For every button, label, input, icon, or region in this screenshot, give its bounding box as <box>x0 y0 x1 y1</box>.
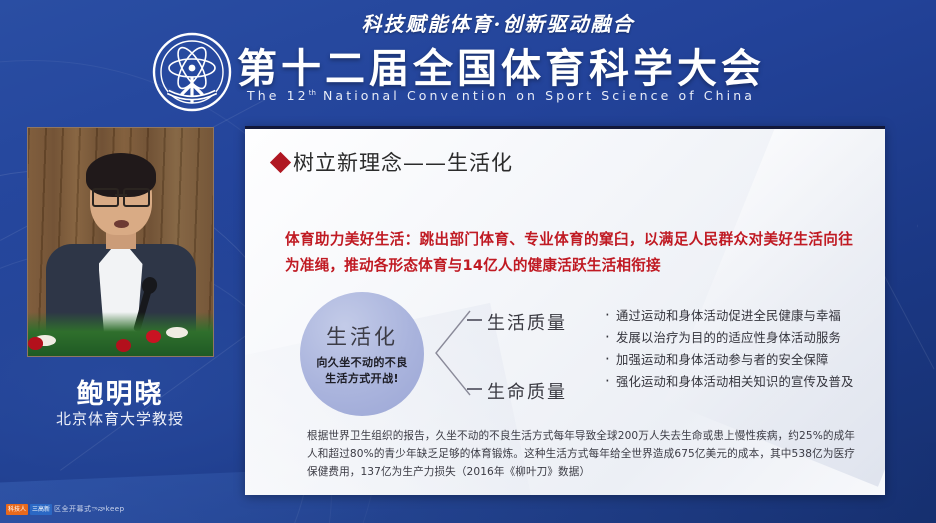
header-script-line: 科技赋能体育·创新驱动融合 <box>0 8 936 37</box>
photo-flowers <box>28 312 213 356</box>
circle-headline: 生活化 <box>326 321 398 351</box>
watermark-tag-a: 科技人 <box>6 504 28 515</box>
watermark-text: 区全开幕式ానాkeep <box>54 504 125 515</box>
header-main-title: 第十二届全国体育科学大会 <box>0 36 936 94</box>
list-item: 发展以治疗为目的的适应性身体活动服务 <box>605 327 873 349</box>
branch-label-life-quality: 生活质量 <box>487 309 567 335</box>
slide-bullet-list: 通过运动和身体活动促进全民健康与幸福 发展以治疗为目的的适应性身体活动服务 加强… <box>605 305 873 393</box>
list-item: 强化运动和身体活动相关知识的宣传及普及 <box>605 371 873 393</box>
diamond-bullet-icon <box>270 151 291 172</box>
slide-red-paragraph: 体育助力美好生活：跳出部门体育、专业体育的窠臼，以满足人民群众对美好生活向往为准… <box>285 227 853 279</box>
header-english-ordinal: th <box>309 89 316 97</box>
conference-header: 科技赋能体育·创新驱动融合 第十二届全国体育科学大会 The 12th Nati… <box>0 0 936 118</box>
broadcast-watermark: 科技人 三高新 区全开幕式ానాkeep <box>6 504 125 515</box>
speaker-affiliation: 北京体育大学教授 <box>0 408 240 429</box>
circle-subline-2: 生活方式开战! <box>316 371 407 387</box>
watermark-tag-b: 三高新 <box>30 504 52 515</box>
slide-footnote: 根据世界卫生组织的报告，久坐不动的不良生活方式每年导致全球200万人失去生命或患… <box>307 427 855 481</box>
header-english-post: National Convention on Sport Science of … <box>316 88 755 103</box>
circle-subline: 向久坐不动的不良 生活方式开战! <box>316 355 407 387</box>
speaker-name: 鲍明晓 <box>0 372 240 411</box>
list-item: 加强运动和身体活动参与者的安全保障 <box>605 349 873 371</box>
list-item: 通过运动和身体活动促进全民健康与幸福 <box>605 305 873 327</box>
slide-title-text: 树立新理念——生活化 <box>293 147 513 177</box>
branch-label-health-quality: 生命质量 <box>487 378 567 404</box>
branch-dash <box>467 319 482 321</box>
branch-bracket-icon <box>430 307 472 399</box>
lifestyle-circle: 生活化 向久坐不动的不良 生活方式开战! <box>300 292 424 416</box>
photo-mouth <box>114 220 129 228</box>
header-english-subtitle: The 12th National Convention on Sport Sc… <box>0 88 936 103</box>
branch-dash <box>467 388 482 390</box>
photo-glasses <box>92 188 150 203</box>
slide-panel: 树立新理念——生活化 体育助力美好生活：跳出部门体育、专业体育的窠臼，以满足人民… <box>245 126 885 495</box>
slide-screenshot: 科技赋能体育·创新驱动融合 第十二届全国体育科学大会 The 12th Nati… <box>0 0 936 523</box>
header-english-pre: The 12 <box>247 88 309 103</box>
slide-title: 树立新理念——生活化 <box>273 147 513 177</box>
circle-subline-1: 向久坐不动的不良 <box>316 355 407 371</box>
speaker-photo <box>27 127 214 357</box>
